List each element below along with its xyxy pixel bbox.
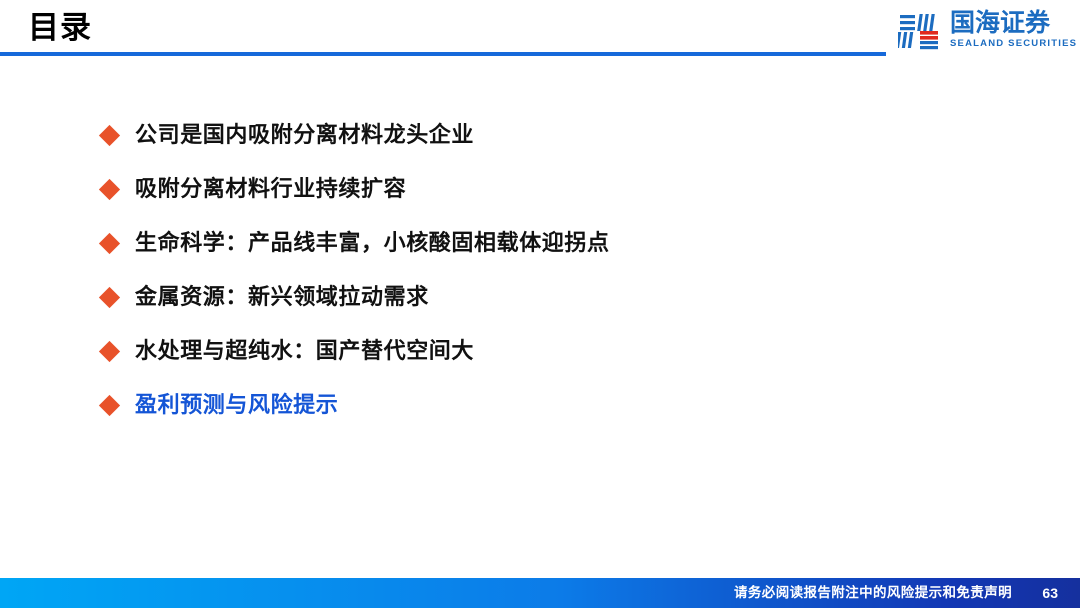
agenda-item-6-current[interactable]: 盈利预测与风险提示 xyxy=(100,378,980,432)
agenda-item-1[interactable]: 公司是国内吸附分离材料龙头企业 xyxy=(100,108,980,162)
diamond-bullet-icon xyxy=(99,286,120,307)
logo-name-en: SEALAND SECURITIES xyxy=(950,37,1074,50)
agenda-item-5[interactable]: 水处理与超纯水：国产替代空间大 xyxy=(100,324,980,378)
footer-bar: 请务必阅读报告附注中的风险提示和免责声明 63 xyxy=(0,578,1080,608)
company-logo: 国海证券 SEALAND SECURITIES xyxy=(898,9,1074,55)
diamond-bullet-icon xyxy=(99,232,120,253)
page-title: 目录 xyxy=(28,8,92,48)
diamond-bullet-icon xyxy=(99,394,120,415)
agenda-item-label: 公司是国内吸附分离材料龙头企业 xyxy=(135,122,474,148)
agenda-item-4[interactable]: 金属资源：新兴领域拉动需求 xyxy=(100,270,980,324)
footer-disclaimer: 请务必阅读报告附注中的风险提示和免责声明 xyxy=(734,578,1012,608)
agenda-item-label: 吸附分离材料行业持续扩容 xyxy=(135,176,406,202)
header-divider-line xyxy=(0,52,886,56)
agenda-item-2[interactable]: 吸附分离材料行业持续扩容 xyxy=(100,162,980,216)
agenda-item-label: 盈利预测与风险提示 xyxy=(135,392,338,418)
logo-wordmark: 国海证券 SEALAND SECURITIES xyxy=(950,9,1074,50)
diamond-bullet-icon xyxy=(99,124,120,145)
agenda-item-label: 生命科学：产品线丰富，小核酸固相载体迎拐点 xyxy=(135,230,610,256)
agenda-list: 公司是国内吸附分离材料龙头企业 吸附分离材料行业持续扩容 生命科学：产品线丰富，… xyxy=(100,108,980,432)
page-number: 63 xyxy=(1042,578,1058,608)
diamond-bullet-icon xyxy=(99,178,120,199)
sealand-emblem-icon xyxy=(898,11,942,51)
agenda-item-label: 水处理与超纯水：国产替代空间大 xyxy=(135,338,474,364)
logo-name-cn: 国海证券 xyxy=(950,9,1074,37)
agenda-item-3[interactable]: 生命科学：产品线丰富，小核酸固相载体迎拐点 xyxy=(100,216,980,270)
diamond-bullet-icon xyxy=(99,340,120,361)
agenda-item-label: 金属资源：新兴领域拉动需求 xyxy=(135,284,429,310)
slide-canvas: 目录 xyxy=(0,0,1080,608)
